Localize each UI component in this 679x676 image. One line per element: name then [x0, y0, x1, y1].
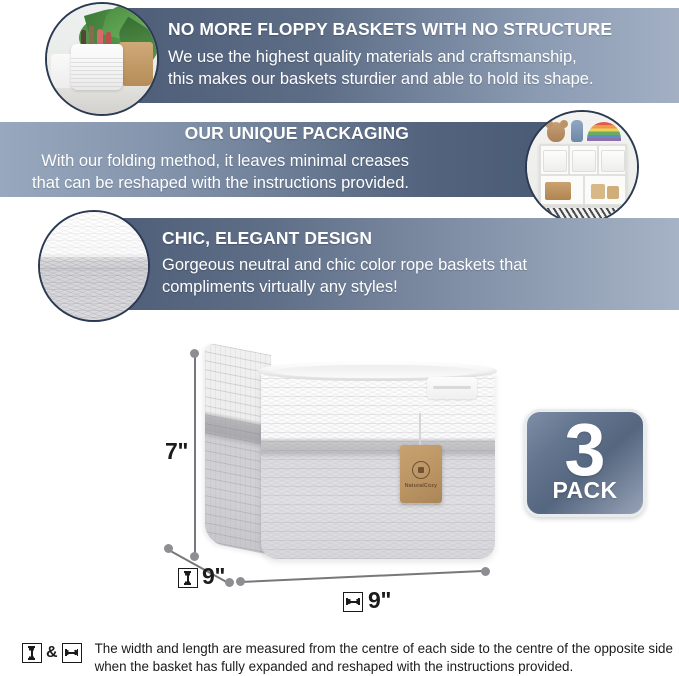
shelf-divider: [583, 176, 585, 206]
feature-banner-2-title: OUR UNIQUE PACKAGING: [20, 124, 409, 143]
feature-banner-3-title: CHIC, ELEGANT DESIGN: [162, 229, 659, 248]
teddy-bear-ear: [545, 120, 553, 128]
feature-banner-1-text: NO MORE FLOPPY BASKETS WITH NO STRUCTURE…: [120, 20, 679, 90]
height-dimension-dot-top: [190, 349, 199, 358]
height-dimension-dot-bottom: [190, 552, 199, 561]
woven-planter: [119, 42, 153, 86]
feature-banner-1: NO MORE FLOPPY BASKETS WITH NO STRUCTURE…: [120, 8, 679, 103]
feature-banner-1-title: NO MORE FLOPPY BASKETS WITH NO STRUCTURE: [168, 20, 659, 39]
rope-texture-overlay: [71, 58, 123, 90]
footnote-line-2: when the basket has fully expanded and r…: [95, 658, 673, 676]
depth-measure-icon: [22, 643, 42, 663]
height-dimension-line: [194, 353, 196, 556]
width-measure-icon: [343, 592, 363, 612]
teddy-bear-ear: [560, 120, 568, 128]
brand-name: NaturalCozy: [400, 483, 442, 489]
width-measure-icon: [62, 643, 82, 663]
feature-banner-1-body-line1: We use the highest quality materials and…: [168, 47, 659, 69]
hang-tag-string: [419, 413, 421, 447]
footnote-icon-group: &: [22, 643, 82, 663]
pack-count-number: 3: [564, 418, 605, 482]
feature-banner-3: CHIC, ELEGANT DESIGN Gorgeous neutral an…: [100, 218, 679, 310]
feature-banner-1-body-line2: this makes our baskets sturdier and able…: [168, 69, 659, 91]
storage-bin: [543, 150, 567, 172]
feature-banner-2-text: OUR UNIQUE PACKAGING With our folding me…: [0, 124, 559, 194]
feature-banner-3-body: Gorgeous neutral and chic color rope bas…: [162, 255, 659, 299]
measurement-footnote: & The width and length are measured from…: [22, 640, 662, 676]
width-dimension-line: [240, 570, 486, 583]
width-dimension-dot-right: [481, 567, 490, 576]
feature-banner-3-body-line2: compliments virtually any styles!: [162, 277, 659, 299]
shelf-divider: [568, 144, 570, 174]
feature-banner-2: OUR UNIQUE PACKAGING With our folding me…: [0, 122, 559, 197]
footnote-text: The width and length are measured from t…: [95, 640, 673, 676]
pack-count-label: PACK: [552, 479, 617, 502]
feature-image-2-toy-shelf: [525, 110, 639, 224]
wooden-blocks: [591, 184, 605, 199]
pack-count-badge: 3 PACK: [524, 409, 646, 517]
feature-banner-2-body-line2: that can be reshaped with the instructio…: [20, 173, 409, 195]
feature-banner-2-body: With our folding method, it leaves minim…: [20, 151, 409, 195]
footnote-line-1: The width and length are measured from t…: [95, 640, 673, 658]
width-dimension-dot-left: [236, 577, 245, 586]
wooden-toy-crate: [545, 182, 571, 200]
cotton-rope-storage-basket: NaturalCozy: [205, 355, 495, 570]
feature-banner-3-text: CHIC, ELEGANT DESIGN Gorgeous neutral an…: [100, 229, 679, 299]
shelf-divider: [597, 144, 599, 174]
basket-handle-slot: [433, 386, 471, 389]
feature-banner-2-body-line1: With our folding method, it leaves minim…: [20, 151, 409, 173]
height-dimension-label: 7": [165, 438, 188, 465]
wooden-blocks: [607, 186, 619, 199]
rope-white-highlight: [40, 212, 148, 257]
feature-banner-1-body: We use the highest quality materials and…: [168, 47, 659, 91]
depth-dimension-dot-top: [164, 544, 173, 553]
depth-dimension-dot-bottom: [225, 578, 234, 587]
footnote-ampersand: &: [46, 643, 58, 663]
width-dimension-label: 9": [368, 587, 391, 614]
feature-banner-3-body-line1: Gorgeous neutral and chic color rope bas…: [162, 255, 659, 277]
depth-measure-icon: [178, 568, 198, 588]
hang-tag: NaturalCozy: [400, 445, 442, 503]
storage-bin: [572, 150, 596, 172]
feature-image-3-rope-texture: [38, 210, 150, 322]
feature-image-1-basket-with-brushes: [45, 2, 159, 116]
brand-logo-icon: [412, 461, 430, 479]
doll-figure: [571, 120, 583, 142]
depth-dimension-label: 9": [202, 563, 225, 590]
storage-bin: [601, 150, 625, 172]
